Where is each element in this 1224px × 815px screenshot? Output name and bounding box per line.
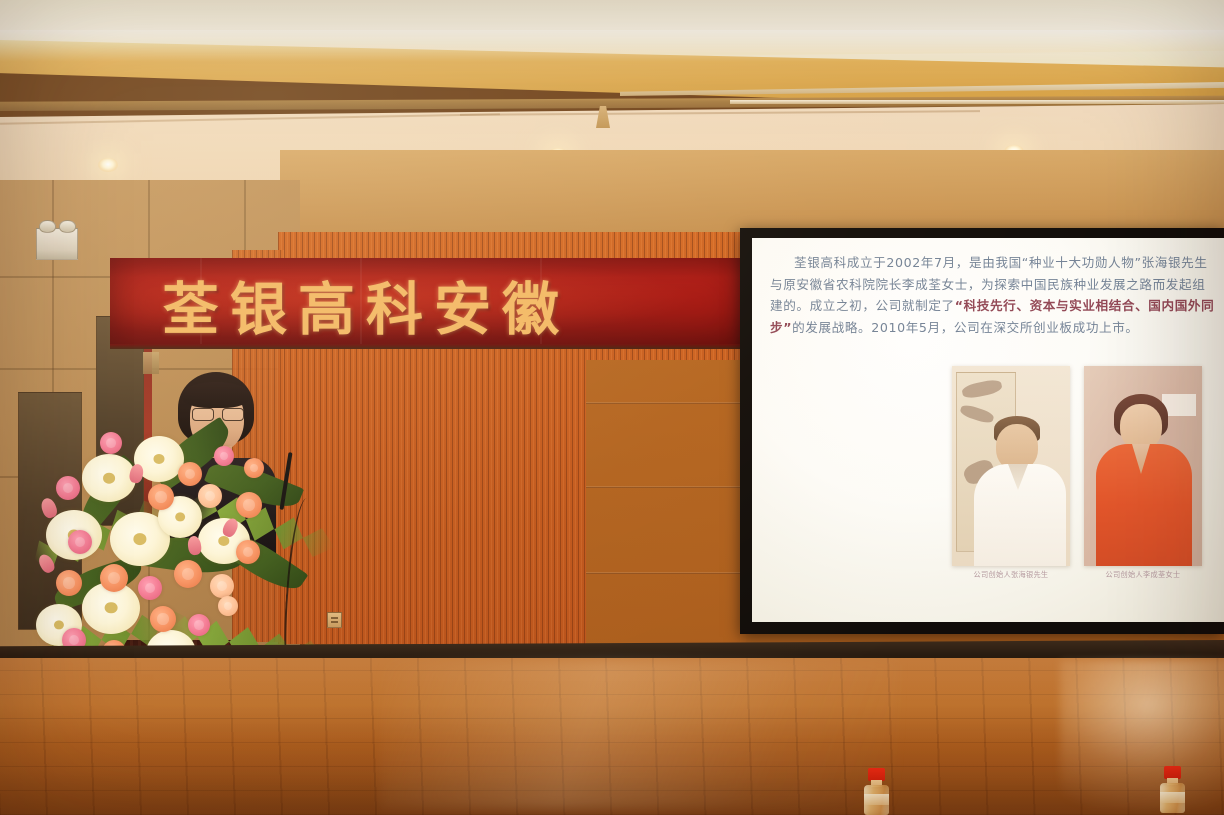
emergency-lamp-right — [59, 220, 76, 233]
rose-8 — [198, 484, 222, 508]
emergency-light-fixture — [36, 228, 78, 260]
rose-9 — [100, 564, 128, 592]
rose-16 — [188, 614, 210, 636]
rose-12 — [174, 560, 202, 588]
rose-3 — [178, 462, 202, 486]
rose-7 — [236, 492, 262, 518]
water-bottle-right[interactable] — [1158, 766, 1186, 812]
water-bottle-left[interactable] — [862, 768, 890, 814]
emergency-lamp-left — [39, 220, 56, 233]
projection-screen-surface[interactable]: 荃银高科成立于2002年7月，是由我国“种业十大功勋人物”张海银先生与原安徽省农… — [752, 238, 1224, 622]
downlight-1 — [98, 158, 118, 172]
slide-photo-founder-zhang — [952, 366, 1070, 566]
rose-10 — [56, 570, 82, 596]
rose-1 — [56, 476, 80, 500]
bottle-label-left — [864, 794, 889, 805]
slide-caption-row: 公司创始人张海银先生 公司创始人李成荃女士 — [952, 570, 1216, 580]
rose-2 — [100, 432, 122, 454]
wall-power-outlet[interactable] — [327, 612, 342, 628]
bottle-label-right — [1160, 792, 1185, 803]
rose-20 — [244, 458, 264, 478]
rose-5 — [148, 484, 174, 510]
slide-caption-right: 公司创始人李成荃女士 — [1084, 570, 1202, 580]
rose-15 — [150, 606, 176, 632]
slide-text-part-2: 的发展战略。2010年5月，公司在深交所创业板成功上市。 — [792, 320, 1139, 335]
door-sign-plate — [143, 352, 159, 374]
pendant-fixture — [596, 106, 610, 128]
floor-light-hotspot — [1060, 660, 1224, 810]
slide-caption-left: 公司创始人张海银先生 — [952, 570, 1070, 580]
rose-13 — [210, 574, 234, 598]
banner-title-text: 荃银高科安徽 — [162, 264, 570, 346]
floor-reflection-gloss — [380, 660, 900, 810]
slide-content: 荃银高科成立于2002年7月，是由我国“种业十大功勋人物”张海银先生与原安徽省农… — [752, 238, 1224, 622]
slide-photo-founder-li — [1084, 366, 1202, 566]
event-banner: 荃银高科安徽 — [110, 258, 742, 346]
slide-paragraph: 荃银高科成立于2002年7月，是由我国“种业十大功勋人物”张海银先生与原安徽省农… — [770, 252, 1218, 338]
flat-panel-seam-3 — [586, 572, 746, 574]
slide-photo-row — [952, 366, 1202, 566]
flat-panel-seam-2 — [586, 486, 746, 488]
speaker-fringe — [182, 382, 250, 408]
conference-hall-photo: 荃银高科安徽 荃银高科成立于2002年7月，是由我国“种业十大功勋人物”张海银先… — [0, 0, 1224, 815]
rose-14 — [236, 540, 260, 564]
rose-11 — [138, 576, 162, 600]
lily-1 — [82, 454, 136, 502]
ceiling-rail — [730, 100, 1224, 104]
banner-bottom-edge — [110, 344, 742, 349]
flat-panel-seam-1 — [586, 402, 746, 404]
rose-4 — [214, 446, 234, 466]
rose-19 — [218, 596, 238, 616]
flat-panel-wall — [586, 360, 746, 646]
rose-6 — [68, 530, 92, 554]
